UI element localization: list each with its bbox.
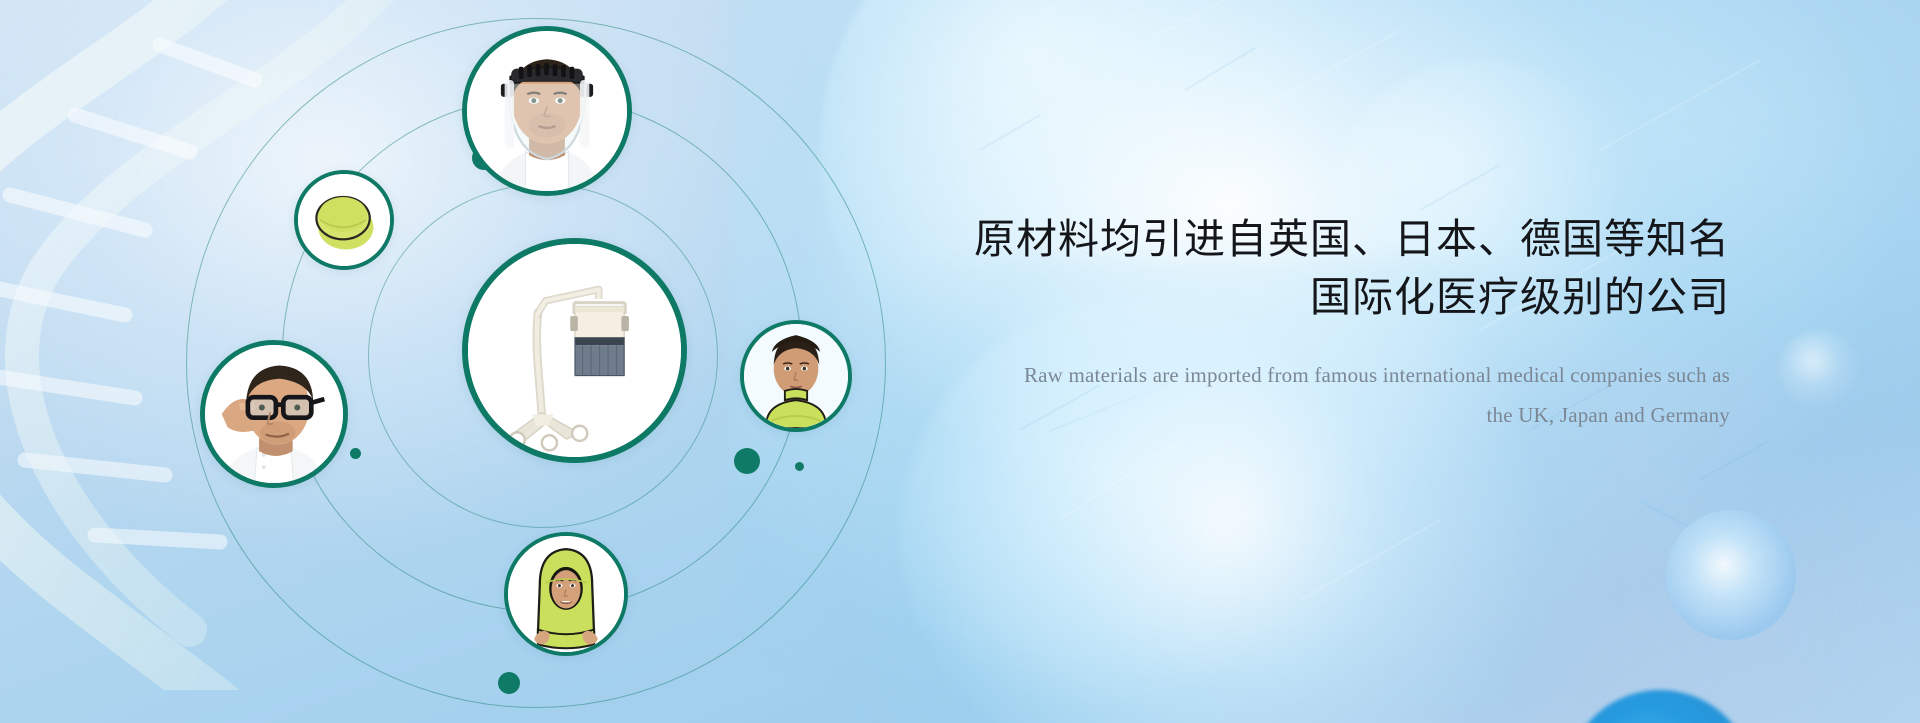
orbit-dot bbox=[350, 448, 361, 459]
headline-line-1: 原材料均引进自英国、日本、德国等知名 bbox=[974, 216, 1730, 262]
subtitle-line-2: the UK, Japan and Germany bbox=[930, 396, 1730, 436]
bubble-thyroid-collar[interactable] bbox=[740, 320, 852, 432]
subtitle: Raw materials are imported from famous i… bbox=[930, 356, 1730, 436]
bubble-face-shield[interactable] bbox=[462, 26, 632, 196]
headline-line-2: 国际化医疗级别的公司 bbox=[930, 268, 1730, 326]
orbit-dot bbox=[795, 462, 804, 471]
face-shield-icon bbox=[467, 31, 627, 191]
mobile-shield-stand-icon bbox=[468, 244, 681, 457]
copy-block: 原材料均引进自英国、日本、德国等知名 国际化医疗级别的公司 Raw materi… bbox=[930, 210, 1730, 436]
lead-glasses-icon bbox=[205, 345, 343, 483]
hero-banner: 原材料均引进自英国、日本、德国等知名 国际化医疗级别的公司 Raw materi… bbox=[0, 0, 1920, 723]
subtitle-line-1: Raw materials are imported from famous i… bbox=[930, 356, 1730, 396]
bubble-mobile-shield-stand[interactable] bbox=[462, 238, 687, 463]
bubble-lead-hood[interactable] bbox=[504, 532, 628, 656]
lead-cap-icon bbox=[298, 174, 390, 266]
orbit-dot bbox=[734, 448, 760, 474]
page-title: 原材料均引进自英国、日本、德国等知名 国际化医疗级别的公司 bbox=[930, 210, 1730, 326]
bubble-lead-glasses[interactable] bbox=[200, 340, 348, 488]
bubble-lead-cap[interactable] bbox=[294, 170, 394, 270]
thyroid-collar-icon bbox=[744, 324, 848, 428]
orbit-dot bbox=[498, 672, 520, 694]
lead-hood-icon bbox=[508, 536, 624, 652]
